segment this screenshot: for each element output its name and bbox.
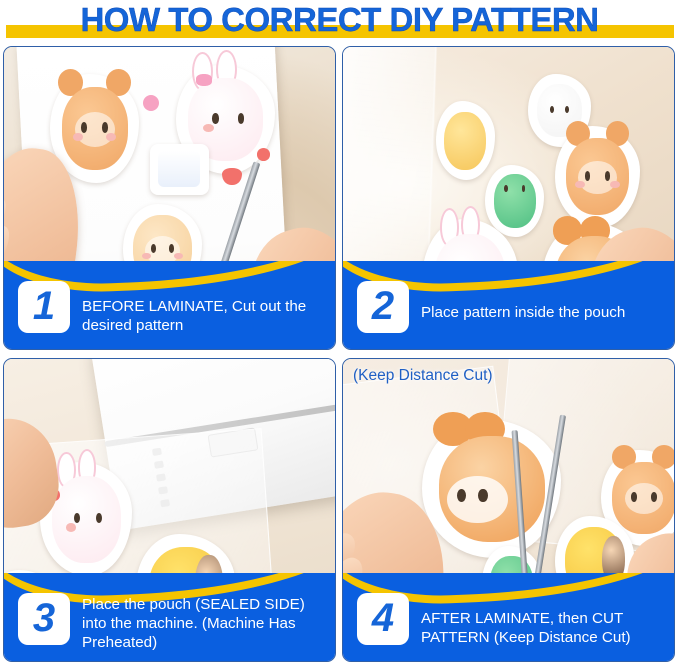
step-number-badge-1: 1 bbox=[18, 281, 70, 333]
title-segment-1: HOW TO CORRECT bbox=[80, 1, 389, 38]
step-2-caption-bar: 2 Place pattern inside the pouch bbox=[343, 261, 674, 349]
step-panel-3: 3 Place the pouch (SEALED SIDE) into the… bbox=[3, 358, 336, 662]
step-number-4: 4 bbox=[372, 598, 394, 638]
step-number-1: 1 bbox=[33, 286, 55, 326]
step-number-2: 2 bbox=[372, 286, 394, 326]
step-caption-1: BEFORE LAMINATE, Cut out the desired pat… bbox=[82, 297, 327, 335]
step-panel-4: (Keep Distance Cut) 4 AFTER LAMINATE, th… bbox=[342, 358, 675, 662]
scissor-blade bbox=[534, 415, 566, 581]
title-text: HOW TO CORRECT DIY PATTERN bbox=[0, 0, 679, 40]
step-number-badge-2: 2 bbox=[357, 281, 409, 333]
title-segment-2: DIY PATTERN bbox=[390, 1, 599, 38]
page-title: HOW TO CORRECT DIY PATTERN bbox=[0, 0, 679, 44]
step-1-caption-bar: 1 BEFORE LAMINATE, Cut out the desired p… bbox=[4, 261, 335, 349]
step-4-caption-bar: 4 AFTER LAMINATE, then CUT PATTERN (Keep… bbox=[343, 573, 674, 661]
sticker-crocodile bbox=[485, 165, 544, 237]
step-number-badge-4: 4 bbox=[357, 593, 409, 645]
step-caption-2: Place pattern inside the pouch bbox=[421, 303, 666, 322]
step-panel-2: 2 Place pattern inside the pouch bbox=[342, 46, 675, 350]
steps-grid: 1 BEFORE LAMINATE, Cut out the desired p… bbox=[0, 44, 679, 666]
step-3-caption-bar: 3 Place the pouch (SEALED SIDE) into the… bbox=[4, 573, 335, 661]
step-caption-4: AFTER LAMINATE, then CUT PATTERN (Keep D… bbox=[421, 609, 666, 647]
sticker-bear bbox=[555, 126, 640, 229]
sticker-yellow-cat bbox=[436, 101, 495, 179]
scissor-blade bbox=[512, 430, 528, 580]
step-number-badge-3: 3 bbox=[18, 593, 70, 645]
step-number-3: 3 bbox=[33, 598, 55, 638]
step-caption-3: Place the pouch (SEALED SIDE) into the m… bbox=[82, 595, 327, 652]
keep-distance-note: (Keep Distance Cut) bbox=[353, 367, 493, 385]
step-panel-1: 1 BEFORE LAMINATE, Cut out the desired p… bbox=[3, 46, 336, 350]
